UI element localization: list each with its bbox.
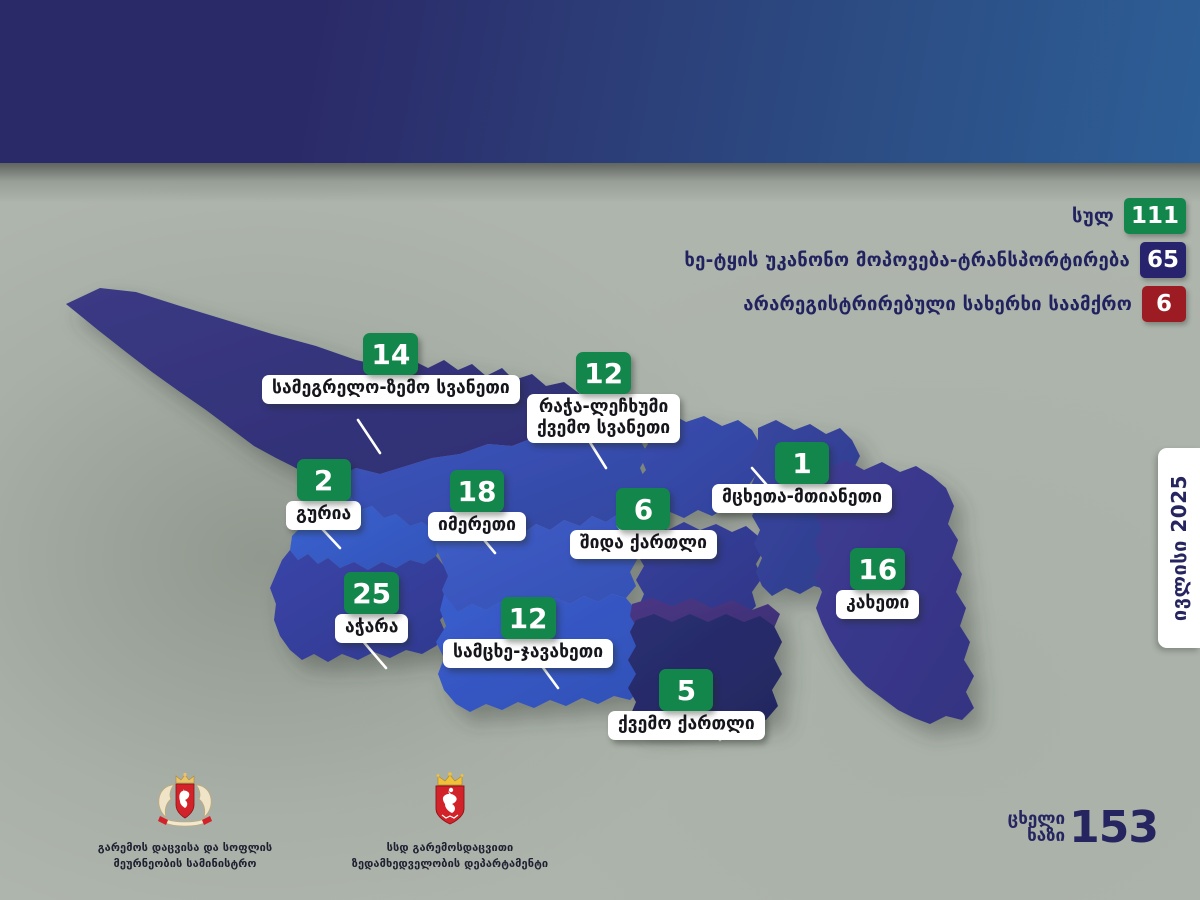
map-marker-samtskhe-javakheti[interactable]: 12 სამცხე-ჯავახეთი [443, 597, 613, 668]
marker-value-adjara: 25 [344, 572, 399, 614]
legend-value-illegal-logging: 65 [1140, 242, 1186, 278]
marker-label-racha: რაჭა-ლეჩხუმი ქვემო სვანეთი [527, 394, 680, 443]
georgia-shield-icon [424, 772, 476, 834]
marker-value-racha: 12 [576, 352, 631, 394]
marker-label-kvemo-kartli: ქვემო ქართლი [608, 711, 765, 740]
legend-value-unregistered-sawmill: 6 [1142, 286, 1186, 322]
legend-row-total: სულ 111 [684, 198, 1186, 234]
date-tab[interactable]: ივლისი 2025 [1158, 448, 1200, 648]
marker-value-shida-kartli: 6 [616, 488, 670, 530]
hotline-words: ცხელი ხაზი [1008, 811, 1066, 845]
marker-label-adjara: აჭარა [335, 614, 408, 643]
marker-label-imereti: იმერეთი [428, 512, 526, 541]
legend: სულ 111 ხე-ტყის უკანონო მოპოვება-ტრანსპო… [684, 198, 1186, 322]
date-tab-label: ივლისი 2025 [1167, 475, 1191, 621]
legend-row-illegal-logging: ხე-ტყის უკანონო მოპოვება-ტრანსპორტირება … [684, 242, 1186, 278]
hotline-word-line: ხაზი [1027, 828, 1065, 845]
marker-value-kvemo-kartli: 5 [659, 669, 713, 711]
footer-org-ministry-caption: გარემოს დაცვისა და სოფლის მეურნეობის სამ… [98, 840, 273, 872]
map-marker-mtskheta-mtianeti[interactable]: 1 მცხეთა-მთიანეთი [712, 442, 892, 513]
marker-label-samtskhe: სამცხე-ჯავახეთი [443, 639, 613, 668]
marker-label-mtskheta: მცხეთა-მთიანეთი [712, 484, 892, 513]
footer: გარემოს დაცვისა და სოფლის მეურნეობის სამ… [0, 780, 1200, 900]
hotline-badge[interactable]: ცხელი ხაზი 153 [1008, 808, 1158, 848]
marker-value-kakheti: 16 [850, 548, 905, 590]
marker-label-shida-kartli: შიდა ქართლი [570, 530, 717, 559]
map-marker-samegrelo-zemo-svaneti[interactable]: 14 სამეგრელო-ზემო სვანეთი [262, 333, 520, 404]
hotline-number: 153 [1069, 808, 1158, 848]
footer-org-ministry: გარემოს დაცვისა და სოფლის მეურნეობის სამ… [40, 772, 330, 872]
georgia-coat-of-arms-icon [154, 772, 216, 834]
header-banner [0, 0, 1200, 163]
marker-label-kakheti: კახეთი [836, 590, 919, 619]
marker-value-samtskhe: 12 [501, 597, 556, 639]
map-marker-adjara[interactable]: 25 აჭარა [335, 572, 408, 643]
marker-value-imereti: 18 [450, 470, 505, 512]
marker-label-guria: გურია [286, 501, 361, 530]
map-marker-imereti[interactable]: 18 იმერეთი [428, 470, 526, 541]
infographic-root: უკანონო ტყითსარგებლობის სტატისტიკა სულ 1… [0, 0, 1200, 900]
marker-value-mtskheta: 1 [775, 442, 829, 484]
marker-label-samegrelo: სამეგრელო-ზემო სვანეთი [262, 375, 520, 404]
footer-org-department-caption: სსდ გარემოსდაცვითი ზედამხედველობის დეპარ… [352, 840, 548, 872]
legend-label-illegal-logging: ხე-ტყის უკანონო მოპოვება-ტრანსპორტირება [684, 250, 1130, 271]
map-marker-shida-kartli[interactable]: 6 შიდა ქართლი [570, 488, 717, 559]
header-shadow [0, 163, 1200, 203]
marker-value-guria: 2 [297, 459, 351, 501]
footer-org-department: სსდ გარემოსდაცვითი ზედამხედველობის დეპარ… [300, 772, 600, 872]
map-marker-kvemo-kartli[interactable]: 5 ქვემო ქართლი [608, 669, 765, 740]
map-marker-racha-lechkhumi[interactable]: 12 რაჭა-ლეჩხუმი ქვემო სვანეთი [527, 352, 680, 443]
legend-label-unregistered-sawmill: არარეგისტრირებული სახერხი საამქრო [743, 294, 1132, 315]
map-marker-guria[interactable]: 2 გურია [286, 459, 361, 530]
legend-label-total: სულ [1072, 206, 1114, 227]
marker-value-samegrelo: 14 [363, 333, 418, 375]
map-marker-kakheti[interactable]: 16 კახეთი [836, 548, 919, 619]
legend-row-unregistered-sawmill: არარეგისტრირებული სახერხი საამქრო 6 [684, 286, 1186, 322]
legend-value-total: 111 [1124, 198, 1186, 234]
